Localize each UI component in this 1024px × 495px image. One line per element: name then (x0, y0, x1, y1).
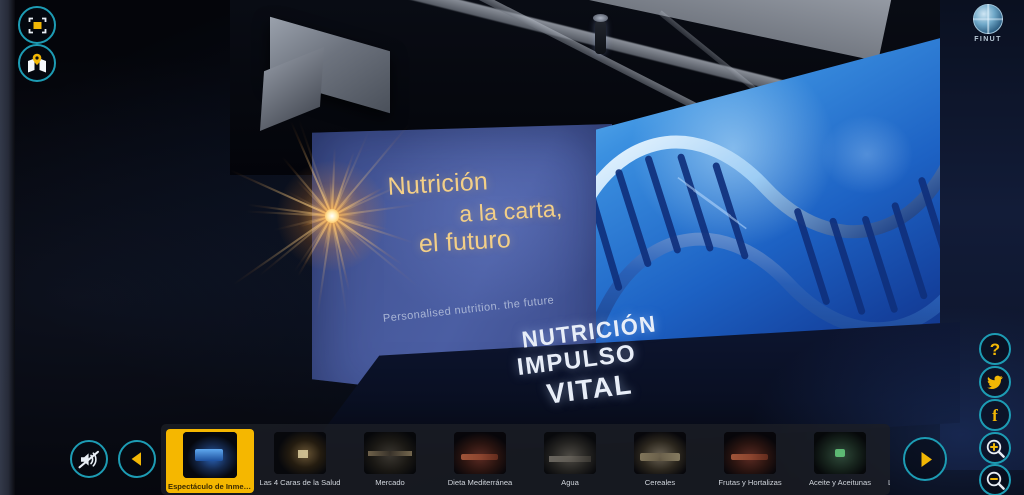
twitter-button[interactable] (979, 366, 1011, 398)
zoom-out-button[interactable] (979, 464, 1011, 495)
filmstrip-thumbnail (634, 432, 686, 474)
filmstrip-item[interactable]: Leche y Derivados Lácteos (886, 429, 890, 489)
filmstrip-item[interactable]: Aceite y Aceitunas (796, 429, 884, 489)
wall-subtitle: Personalised nutrition. the future (382, 294, 554, 325)
filmstrip-thumbnail (814, 432, 866, 474)
filmstrip-item[interactable]: Frutas y Hortalizas (706, 429, 794, 489)
ceiling-spotlight-icon (595, 20, 606, 54)
map-pin-icon (26, 53, 48, 73)
panorama-viewer[interactable]: Nutrición a la carta, el futuro Personal… (0, 0, 1024, 495)
floorplan-button[interactable] (18, 44, 56, 82)
scene-filmstrip[interactable]: Espectáculo de InmersiónLas 4 Caras de l… (161, 424, 890, 495)
filmstrip-item-label: Leche y Derivados Lácteos (888, 479, 890, 487)
filmstrip-thumbnail (183, 432, 237, 478)
left-wall-edge (0, 0, 15, 495)
magnifier-minus-icon (986, 471, 1005, 490)
fullscreen-button[interactable] (18, 6, 56, 44)
previous-button[interactable] (118, 440, 156, 478)
wall-title-line-1: Nutrición (387, 167, 489, 202)
filmstrip-item-label: Agua (528, 479, 612, 487)
question-mark-icon: ? (990, 341, 1000, 358)
triangle-left-icon (128, 450, 146, 468)
filmstrip-item[interactable]: Mercado (346, 429, 434, 489)
filmstrip-item-label: Dieta Mediterránea (438, 479, 522, 487)
globe-logo-icon (973, 4, 1003, 34)
filmstrip-thumbnail (544, 432, 596, 474)
twitter-bird-icon (987, 375, 1003, 389)
filmstrip-item-label: Frutas y Hortalizas (708, 479, 792, 487)
zoom-in-button[interactable] (979, 432, 1011, 464)
filmstrip-item-label: Cereales (618, 479, 702, 487)
wall-title-line-3: el futuro (418, 225, 512, 259)
triangle-right-icon (915, 449, 936, 470)
wall-title-line-2: a la carta, (459, 195, 564, 228)
filmstrip-item[interactable]: Espectáculo de Inmersión (166, 429, 254, 493)
panorama-scene[interactable]: Nutrición a la carta, el futuro Personal… (0, 0, 1024, 495)
mute-button[interactable] (70, 440, 108, 478)
filmstrip-item-label: Mercado (348, 479, 432, 487)
filmstrip-item[interactable]: Las 4 Caras de la Salud (256, 429, 344, 489)
facebook-button[interactable]: f (979, 399, 1011, 431)
fullscreen-icon (28, 17, 47, 34)
facebook-icon: f (992, 407, 998, 424)
filmstrip-thumbnail (364, 432, 416, 474)
filmstrip-thumbnail (274, 432, 326, 474)
filmstrip-item[interactable]: Dieta Mediterránea (436, 429, 524, 489)
next-button[interactable] (903, 437, 947, 481)
filmstrip-item[interactable]: Cereales (616, 429, 704, 489)
filmstrip-item-label: Espectáculo de Inmersión (168, 483, 252, 491)
speaker-muted-icon (78, 450, 100, 469)
magnifier-plus-icon (986, 439, 1005, 458)
filmstrip-thumbnail (454, 432, 506, 474)
finut-logo[interactable]: FINUT (966, 2, 1010, 46)
help-button[interactable]: ? (979, 333, 1011, 365)
filmstrip-thumbnail (724, 432, 776, 474)
filmstrip-item[interactable]: Agua (526, 429, 614, 489)
filmstrip-item-label: Aceite y Aceitunas (798, 479, 882, 487)
brand-name: FINUT (966, 36, 1010, 43)
filmstrip-item-label: Las 4 Caras de la Salud (258, 479, 342, 487)
